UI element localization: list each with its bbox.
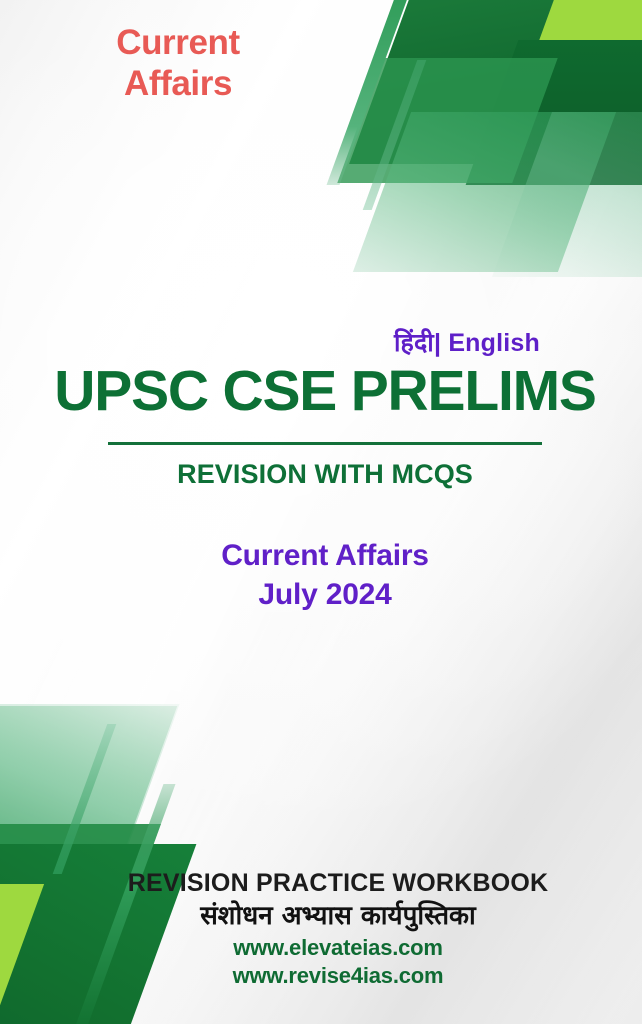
badge-line-1: Current <box>78 22 278 63</box>
workbook-label-english: REVISION PRACTICE WORKBOOK <box>34 868 642 899</box>
book-cover: Current Affairs हिंदी| English UPSC CSE … <box>0 0 642 1024</box>
website-link-secondary[interactable]: www.revise4ias.com <box>34 962 642 990</box>
badge-line-2: Affairs <box>78 63 278 104</box>
title-divider <box>108 442 542 445</box>
language-separator: | <box>434 329 441 357</box>
workbook-label-hindi: संशोधन अभ्यास कार्यपुस्तिका <box>34 900 642 934</box>
edition-month: July 2024 <box>36 575 614 614</box>
edition-block: Current Affairs July 2024 <box>36 536 614 614</box>
title-block: हिंदी| English UPSC CSE PRELIMS REVISION… <box>0 330 642 614</box>
language-english: English <box>448 329 540 357</box>
language-hindi: हिंदी <box>394 328 434 357</box>
subtitle: REVISION WITH MCQS <box>36 459 614 490</box>
cover-footer: REVISION PRACTICE WORKBOOK संशोधन अभ्यास… <box>0 868 642 990</box>
edition-topic: Current Affairs <box>36 536 614 575</box>
cover-content: Current Affairs हिंदी| English UPSC CSE … <box>0 0 642 1024</box>
website-link-primary[interactable]: www.elevateias.com <box>34 934 642 962</box>
language-line: हिंदी| English <box>36 330 614 356</box>
page-title: UPSC CSE PRELIMS <box>36 362 614 420</box>
current-affairs-badge: Current Affairs <box>78 22 278 105</box>
